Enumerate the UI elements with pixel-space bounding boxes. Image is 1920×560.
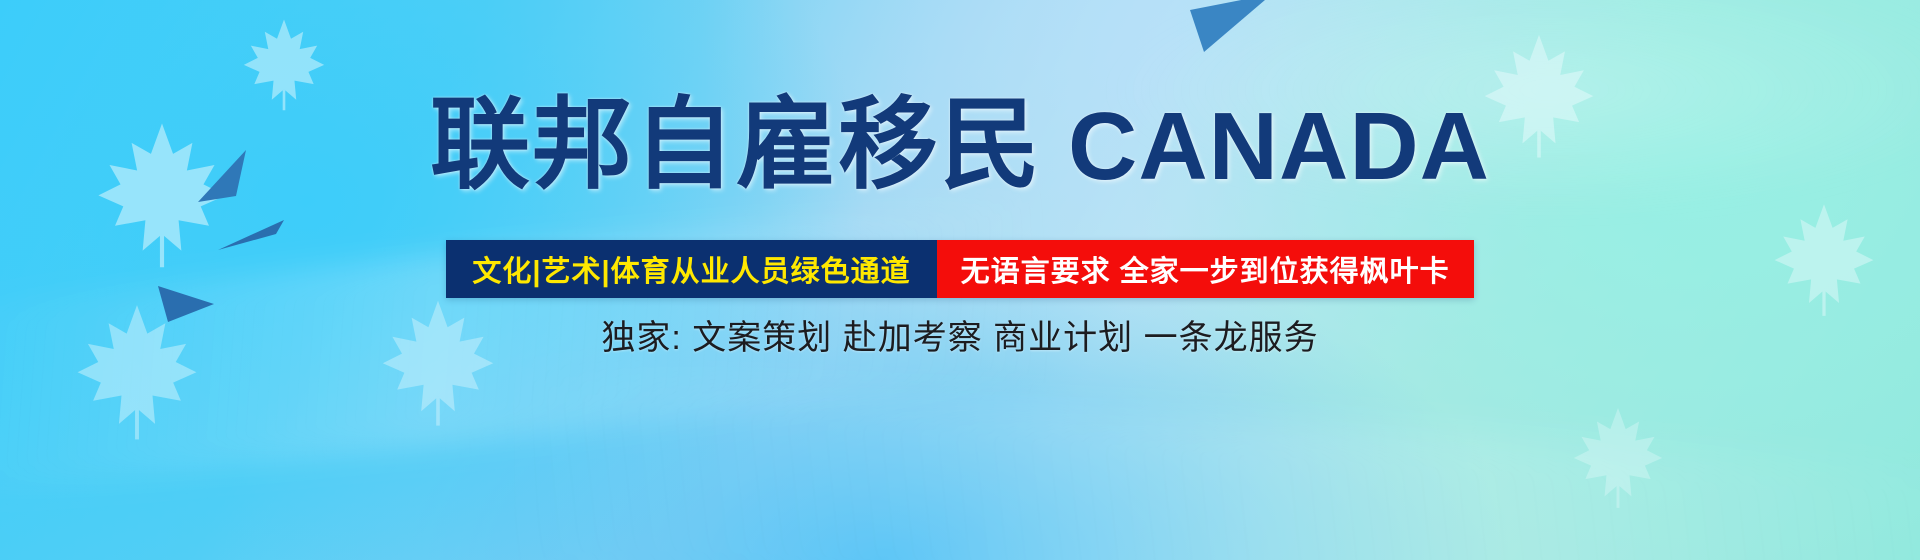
banner-subtitle: 独家: 文案策划 赴加考察 商业计划 一条龙服务 bbox=[0, 310, 1920, 359]
ribbon-red-text: 无语言要求 全家一步到位获得枫叶卡 bbox=[961, 248, 1450, 290]
subtitle-text: 独家: 文案策划 赴加考察 商业计划 一条龙服务 bbox=[601, 319, 1318, 357]
banner-title: 联邦自雇移民 CANADA bbox=[0, 95, 1920, 195]
ribbon-red-segment: 无语言要求 全家一步到位获得枫叶卡 bbox=[937, 240, 1474, 298]
ribbon-blue-text: 文化|艺术|体育从业人员绿色通道 bbox=[472, 248, 910, 290]
title-chinese: 联邦自雇移民 bbox=[430, 95, 1042, 195]
ribbon-blue-segment: 文化|艺术|体育从业人员绿色通道 bbox=[446, 240, 936, 298]
ribbon-inner: 文化|艺术|体育从业人员绿色通道 无语言要求 全家一步到位获得枫叶卡 bbox=[446, 240, 1473, 298]
title-english: CANADA bbox=[1068, 99, 1490, 195]
tagline-ribbon: 文化|艺术|体育从业人员绿色通道 无语言要求 全家一步到位获得枫叶卡 bbox=[0, 240, 1920, 298]
promo-banner: 联邦自雇移民 CANADA 文化|艺术|体育从业人员绿色通道 无语言要求 全家一… bbox=[0, 0, 1920, 560]
banner-content: 联邦自雇移民 CANADA 文化|艺术|体育从业人员绿色通道 无语言要求 全家一… bbox=[0, 0, 1920, 560]
